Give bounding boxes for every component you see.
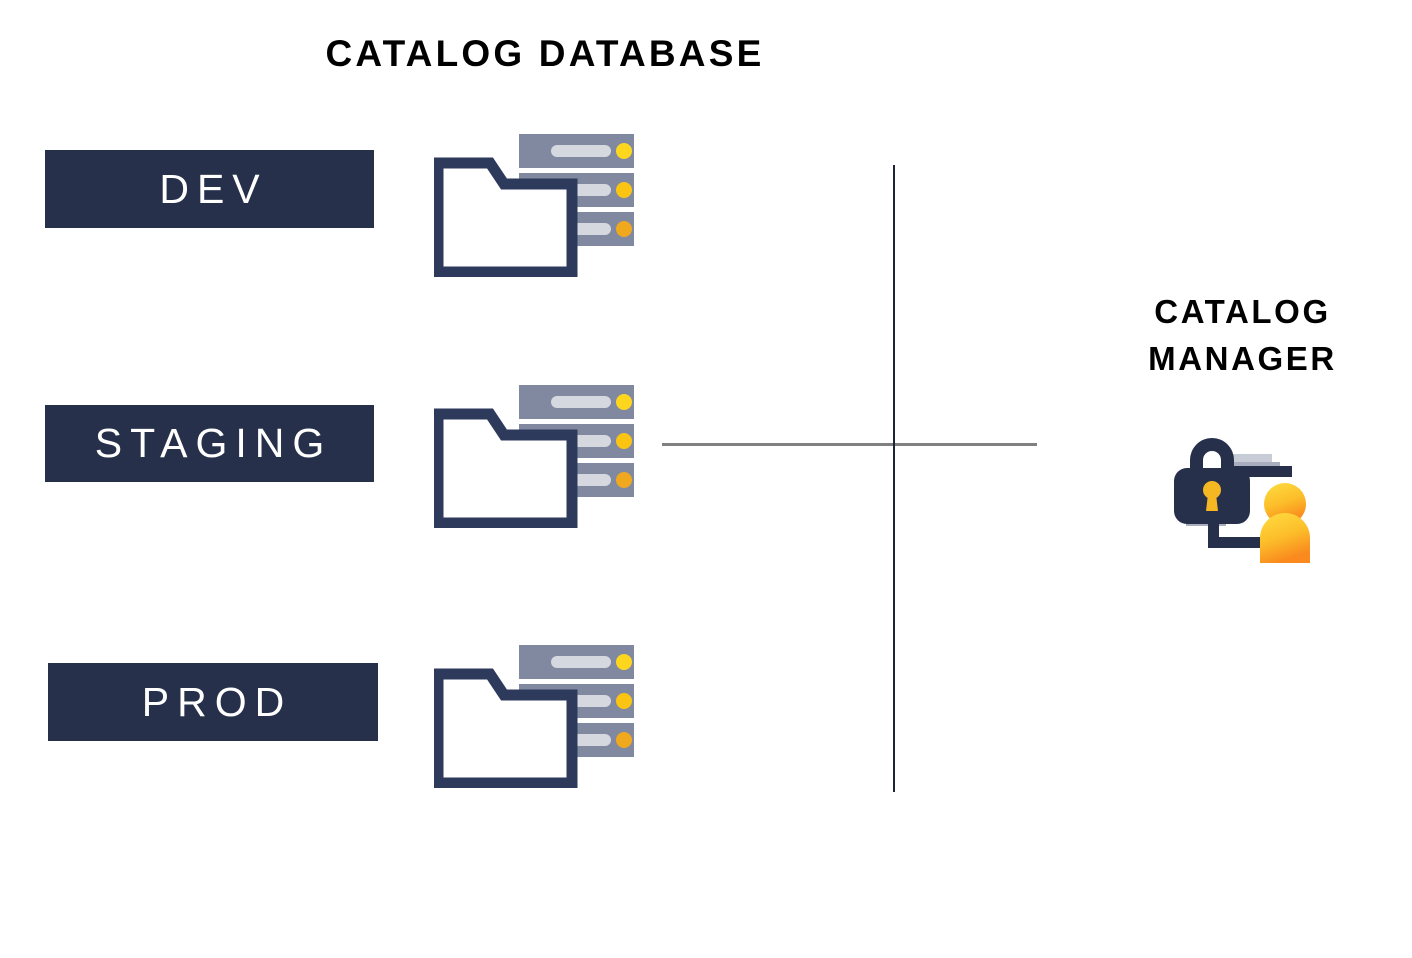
catalog-manager-title: CATALOG MANAGER <box>1070 288 1412 382</box>
person-icon <box>1260 483 1310 563</box>
env-box-staging[interactable]: STAGING <box>45 405 374 482</box>
env-box-prod[interactable]: PROD <box>48 663 378 741</box>
env-label-prod: PROD <box>134 682 292 723</box>
folder-server-icon-prod <box>434 643 634 788</box>
padlock-icon <box>1174 438 1250 524</box>
folder-server-icon-dev <box>434 132 634 277</box>
env-label-staging: STAGING <box>87 423 332 464</box>
env-label-dev: DEV <box>151 169 267 210</box>
catalog-manager-title-line1: CATALOG <box>1070 288 1412 335</box>
catalog-database-title: CATALOG DATABASE <box>0 33 1090 75</box>
lock-user-icon <box>1168 420 1328 575</box>
vertical-divider-line <box>893 165 895 792</box>
folder-server-icon-staging <box>434 383 634 528</box>
catalog-manager-title-line2: MANAGER <box>1070 335 1412 382</box>
horizontal-connector-line <box>662 443 1037 446</box>
env-box-dev[interactable]: DEV <box>45 150 374 228</box>
diagram-canvas: CATALOG DATABASE DEV STAGING <box>0 0 1412 958</box>
